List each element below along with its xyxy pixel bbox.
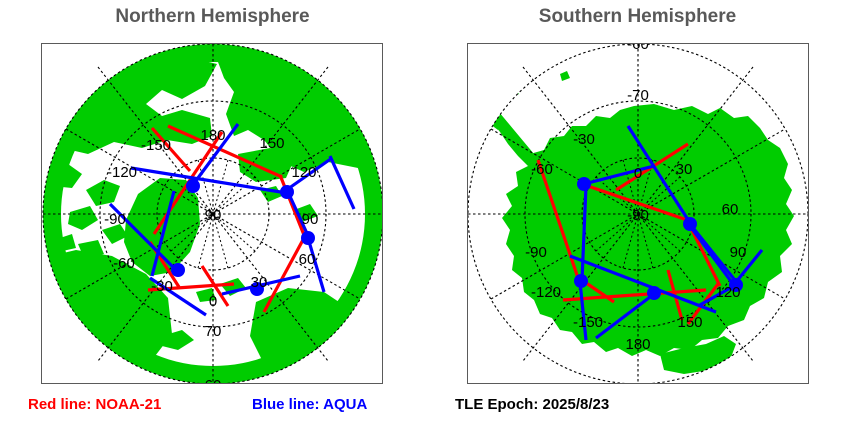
- lon-label-neg120-s: -120: [531, 284, 561, 301]
- lon-label-60-s: 60: [722, 201, 739, 218]
- lon-label-neg150-s: -150: [573, 314, 603, 331]
- lon-label-90: 90: [302, 211, 319, 228]
- lat-label-neg70: -70: [627, 87, 649, 104]
- lon-label-180: 180: [200, 127, 225, 144]
- lon-label-neg30: -30: [151, 278, 173, 295]
- lat-label-70: 70: [205, 323, 222, 340]
- panel-title-south: Southern Hemisphere: [425, 6, 850, 28]
- lon-label-0-s: 0: [634, 165, 642, 182]
- panel-southern-hemisphere: Southern Hemisphere: [425, 0, 850, 425]
- lon-label-120: 120: [291, 164, 316, 181]
- panel-northern-hemisphere: Northern Hemisphere: [0, 0, 425, 425]
- lat-label-neg90-center: -90: [627, 207, 649, 224]
- legend-aqua: Blue line: AQUA: [252, 396, 367, 413]
- lon-label-0: 0: [209, 293, 217, 310]
- lon-label-neg150: -150: [141, 137, 171, 154]
- south-polar-plot: -60 -70 0 30 -30 60 -60 90 -90 120 -120 …: [468, 44, 808, 383]
- figure-root: Northern Hemisphere: [0, 0, 850, 425]
- lon-label-neg90: -90: [104, 211, 126, 228]
- tle-epoch-label: TLE Epoch: 2025/8/23: [455, 396, 609, 413]
- lon-label-neg90-s: -90: [525, 244, 547, 261]
- lon-label-neg60: -60: [113, 255, 135, 272]
- lon-label-150-s: 150: [677, 314, 702, 331]
- lon-label-60: 60: [299, 251, 316, 268]
- plot-area-north: 180 -150 150 -120 120 -90 90 -60 60 -30 …: [41, 43, 383, 384]
- lon-label-120-s: 120: [715, 284, 740, 301]
- lon-label-30-s: 30: [676, 161, 693, 178]
- panel-title-north: Northern Hemisphere: [0, 6, 425, 28]
- lat-label-60: 60: [205, 377, 222, 383]
- lat-label-neg60: -60: [627, 44, 649, 53]
- north-polar-plot: 180 -150 150 -120 120 -90 90 -60 60 -30 …: [42, 44, 382, 383]
- lon-label-neg120: -120: [107, 164, 137, 181]
- lon-label-neg60-s: -60: [531, 161, 553, 178]
- lat-label-90: 90: [205, 207, 222, 224]
- lon-label-150: 150: [259, 135, 284, 152]
- legend-noaa21: Red line: NOAA-21: [28, 396, 161, 413]
- lon-label-neg30-s: -30: [573, 131, 595, 148]
- lon-label-30: 30: [251, 274, 268, 291]
- lon-label-90-s: 90: [730, 244, 747, 261]
- plot-area-south: -60 -70 0 30 -30 60 -60 90 -90 120 -120 …: [467, 43, 809, 384]
- lon-label-180-s: 180: [625, 336, 650, 353]
- legend-north: Red line: NOAA-21 Blue line: AQUA: [0, 396, 425, 420]
